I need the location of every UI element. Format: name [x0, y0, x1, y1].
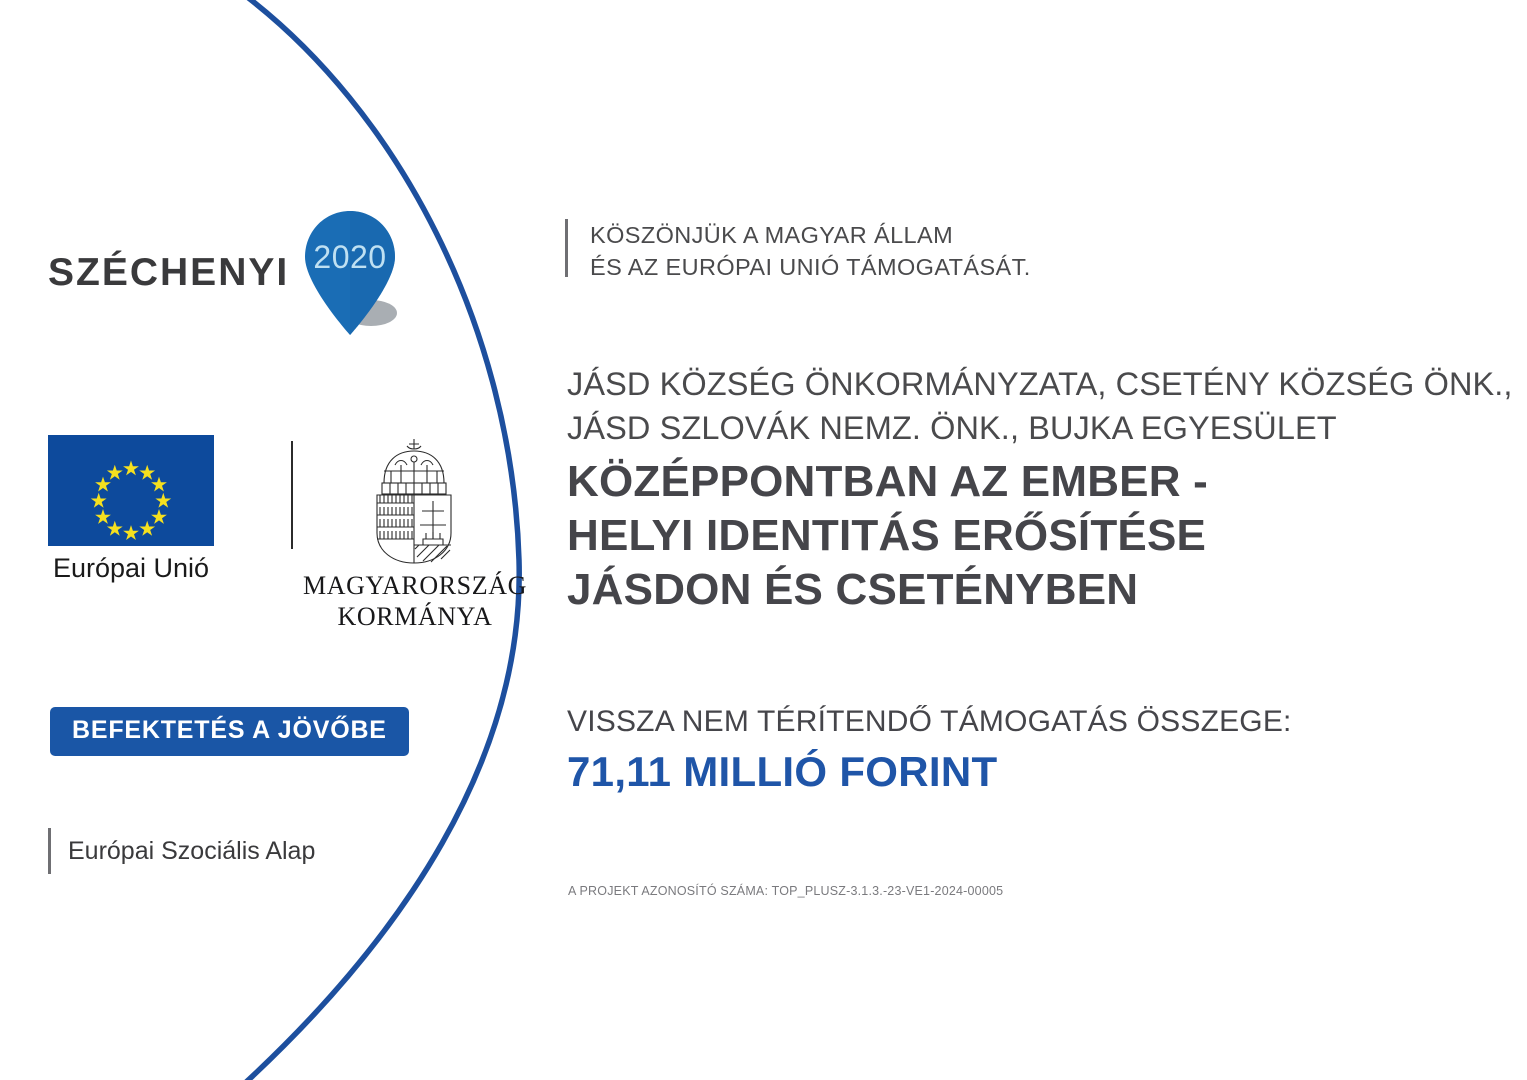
government-label-line1: MAGYARORSZÁG	[296, 571, 534, 602]
emblem-divider	[291, 441, 293, 549]
szechenyi-2020-logo: SZÉCHENYI 2020	[48, 205, 415, 340]
project-title-line2: HELYI IDENTITÁS ERŐSÍTÉSE	[567, 509, 1208, 563]
beneficiaries-line2: JÁSD SZLOVÁK NEMZ. ÖNK., BUJKA EGYESÜLET	[567, 406, 1513, 450]
funding-poster: SZÉCHENYI 2020	[0, 0, 1527, 1080]
acknowledgement-block: KÖSZÖNJÜK A MAGYAR ÁLLAM ÉS AZ EURÓPAI U…	[565, 219, 1031, 284]
government-label-line2: KORMÁNYA	[296, 602, 534, 633]
hungary-coat-of-arms-icon	[353, 435, 475, 567]
map-pin-icon: 2020	[293, 205, 415, 340]
beneficiaries-block: JÁSD KÖZSÉG ÖNKORMÁNYZATA, CSETÉNY KÖZSÉ…	[567, 362, 1513, 450]
eu-flag-icon	[48, 435, 214, 546]
acknowledgement-text: KÖSZÖNJÜK A MAGYAR ÁLLAM ÉS AZ EURÓPAI U…	[590, 219, 1031, 284]
european-social-fund-row: Európai Szociális Alap	[48, 828, 315, 874]
grant-amount: 71,11 MILLIÓ FORINT	[567, 748, 997, 796]
pin-year-text: 2020	[314, 239, 387, 275]
acknowledgement-line1: KÖSZÖNJÜK A MAGYAR ÁLLAM	[590, 219, 1031, 251]
project-title-line1: KÖZÉPPONTBAN AZ EMBER -	[567, 455, 1208, 509]
szechenyi-wordmark: SZÉCHENYI	[48, 253, 289, 292]
beneficiaries-line1: JÁSD KÖZSÉG ÖNKORMÁNYZATA, CSETÉNY KÖZSÉ…	[567, 362, 1513, 406]
european-social-fund-label: Európai Szociális Alap	[68, 837, 315, 866]
eu-flag-label: Európai Unió	[48, 553, 214, 584]
accent-bar	[565, 219, 568, 277]
invest-in-future-badge: BEFEKTETÉS A JÖVŐBE	[50, 707, 409, 756]
grant-label: VISSZA NEM TÉRÍTENDŐ TÁMOGATÁS ÖSSZEGE:	[567, 705, 1292, 739]
government-label: MAGYARORSZÁG KORMÁNYA	[296, 571, 534, 632]
emblem-row: Európai Unió	[48, 435, 478, 625]
project-title-line3: JÁSDON ÉS CSETÉNYBEN	[567, 563, 1208, 617]
acknowledgement-line2: ÉS AZ EURÓPAI UNIÓ TÁMOGATÁSÁT.	[590, 251, 1031, 283]
left-branding-column: SZÉCHENYI 2020	[0, 0, 520, 1080]
right-content-column: KÖSZÖNJÜK A MAGYAR ÁLLAM ÉS AZ EURÓPAI U…	[565, 0, 1495, 1080]
accent-bar	[48, 828, 51, 874]
project-identifier: A PROJEKT AZONOSÍTÓ SZÁMA: TOP_PLUSZ-3.1…	[568, 884, 1003, 898]
project-title: KÖZÉPPONTBAN AZ EMBER - HELYI IDENTITÁS …	[567, 455, 1208, 617]
